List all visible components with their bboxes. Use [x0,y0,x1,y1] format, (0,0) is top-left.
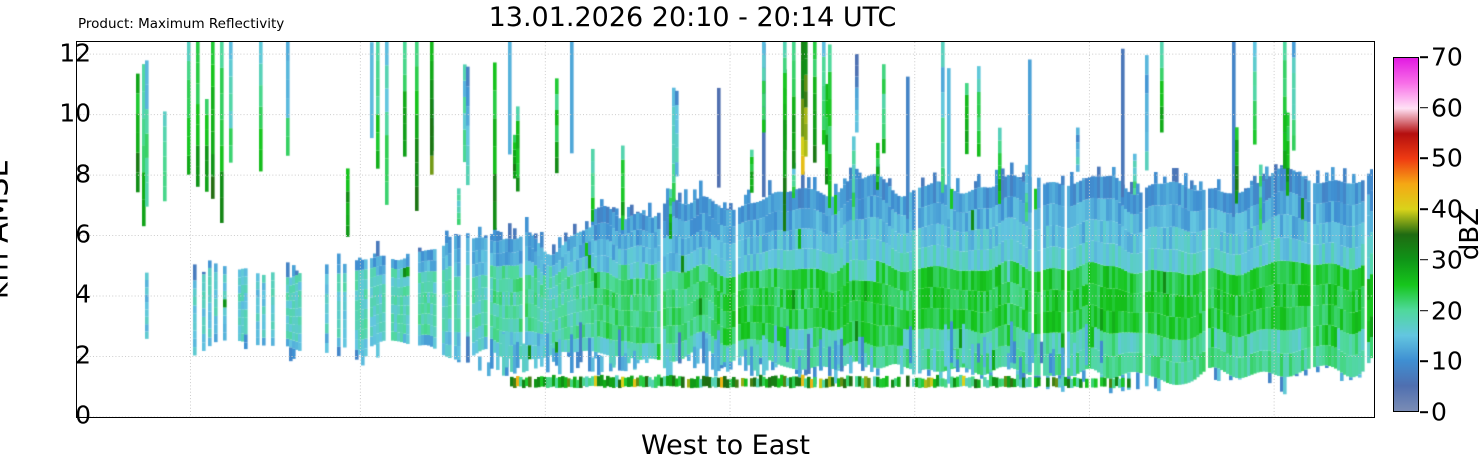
colorbar-tick [1420,56,1428,58]
x-tick [1089,417,1091,418]
colorbar-tick-label: 30 [1431,245,1463,274]
colorbar-tick [1420,310,1428,312]
colorbar-tick-label: 0 [1431,398,1447,427]
x-axis-title: West to East [76,430,1375,461]
x-tick [545,417,547,418]
y-tick-label: 8 [75,159,91,188]
y-tick-label: 12 [59,39,91,68]
colorbar-tick-label: 40 [1431,195,1463,224]
x-tick [1273,417,1275,418]
colorbar-tick [1420,411,1428,413]
plot-area [76,41,1375,418]
colorbar [1393,57,1419,412]
y-tick-label: 2 [75,340,91,369]
colorbar-tick-label: 60 [1431,93,1463,122]
x-tick [730,417,732,418]
colorbar-tick-label: 10 [1431,347,1463,376]
y-axis-title: km AMSL [0,161,16,299]
colorbar-gradient [1394,58,1418,411]
colorbar-tick-label: 70 [1431,43,1463,72]
y-tick-label: 4 [75,280,91,309]
radar-cross-section-figure: 13.01.2026 20:10 - 20:14 UTC Product: Ma… [0,0,1482,470]
reflectivity-heatmap [77,42,1373,416]
colorbar-tick [1420,259,1428,261]
product-label: Product: Maximum Reflectivity [78,16,284,32]
colorbar-tick [1420,158,1428,160]
colorbar-tick [1420,208,1428,210]
x-tick [914,417,916,418]
radar-data-layer [77,42,1374,417]
colorbar-tick-label: 20 [1431,296,1463,325]
x-tick [190,417,192,418]
colorbar-tick [1420,360,1428,362]
y-tick-label: 10 [59,99,91,128]
y-tick-label: 0 [75,401,91,430]
x-tick [360,417,362,418]
colorbar-tick-label: 50 [1431,144,1463,173]
y-tick-label: 6 [75,220,91,249]
colorbar-tick [1420,107,1428,109]
